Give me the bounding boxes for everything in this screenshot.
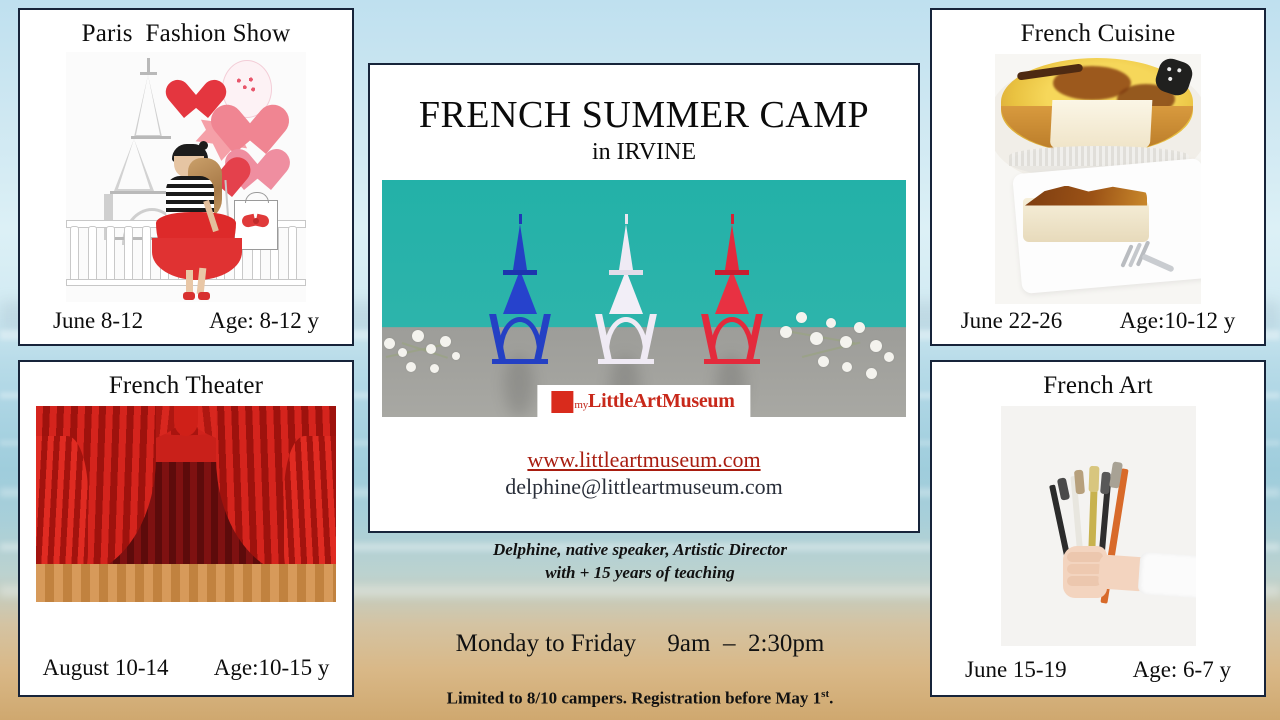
balloon-confetti-dots (234, 74, 258, 96)
card-age: Age:10-15 y (214, 655, 330, 681)
registration-note-end: . (829, 689, 833, 708)
camp-hours: Monday to Friday 9am – 2:30pm (0, 630, 1280, 658)
logo-wordmark: LittleArtMuseum (588, 390, 735, 413)
fashion-illustration-image (66, 52, 306, 302)
card-dates: June 8-12 (53, 308, 143, 334)
ordinal-suffix: st (821, 688, 829, 700)
card-title: French Art (1043, 372, 1153, 400)
registration-note: Limited to 8/10 campers. Registration be… (0, 688, 1280, 709)
eiffel-tower-blue (486, 214, 554, 360)
instructor-bio-line-1: Delphine, native speaker, Artistic Direc… (0, 540, 1280, 560)
flan-slice (1023, 176, 1149, 244)
eiffel-tower-red (698, 214, 766, 360)
card-age: Age: 8-12 y (209, 308, 319, 334)
card-age: Age: 6-7 y (1133, 657, 1231, 683)
card-dates: June 15-19 (965, 657, 1067, 683)
card-dates: June 22-26 (961, 308, 1063, 334)
card-title: French Theater (109, 372, 263, 400)
card-french-cuisine[interactable]: French Cuisine (930, 8, 1266, 346)
hero-eiffel-towers-image: my LittleArtMuseum (382, 180, 906, 417)
girl-illustration (144, 142, 244, 300)
paint-brushes-image (1001, 406, 1196, 646)
card-dates: August 10-14 (43, 655, 169, 681)
card-age: Age:10-12 y (1120, 308, 1236, 334)
email-address[interactable]: delphine@littleartmuseum.com (505, 474, 782, 500)
poster-canvas: Paris Fashion Show (0, 0, 1280, 720)
card-paris-fashion-show[interactable]: Paris Fashion Show (18, 8, 354, 346)
cuisine-flan-image (995, 54, 1201, 304)
instructor-bio-line-2: with + 15 years of teaching (0, 563, 1280, 583)
fork-icon (1123, 236, 1181, 282)
logo-square-icon (551, 391, 573, 413)
page-subtitle: in IRVINE (592, 139, 696, 166)
page-title: FRENCH SUMMER CAMP (419, 93, 869, 137)
brand-logo[interactable]: my LittleArtMuseum (537, 385, 750, 417)
flan-cut-slice-gap (1050, 100, 1153, 152)
website-link[interactable]: www.littleartmuseum.com (527, 447, 760, 473)
eiffel-tower-white (592, 214, 660, 360)
logo-prefix: my (574, 399, 588, 411)
registration-note-text: Limited to 8/10 campers. Registration be… (447, 689, 822, 708)
card-title: French Cuisine (1021, 20, 1176, 48)
card-title: Paris Fashion Show (82, 20, 291, 48)
main-announcement-card[interactable]: FRENCH SUMMER CAMP in IRVINE (368, 63, 920, 533)
